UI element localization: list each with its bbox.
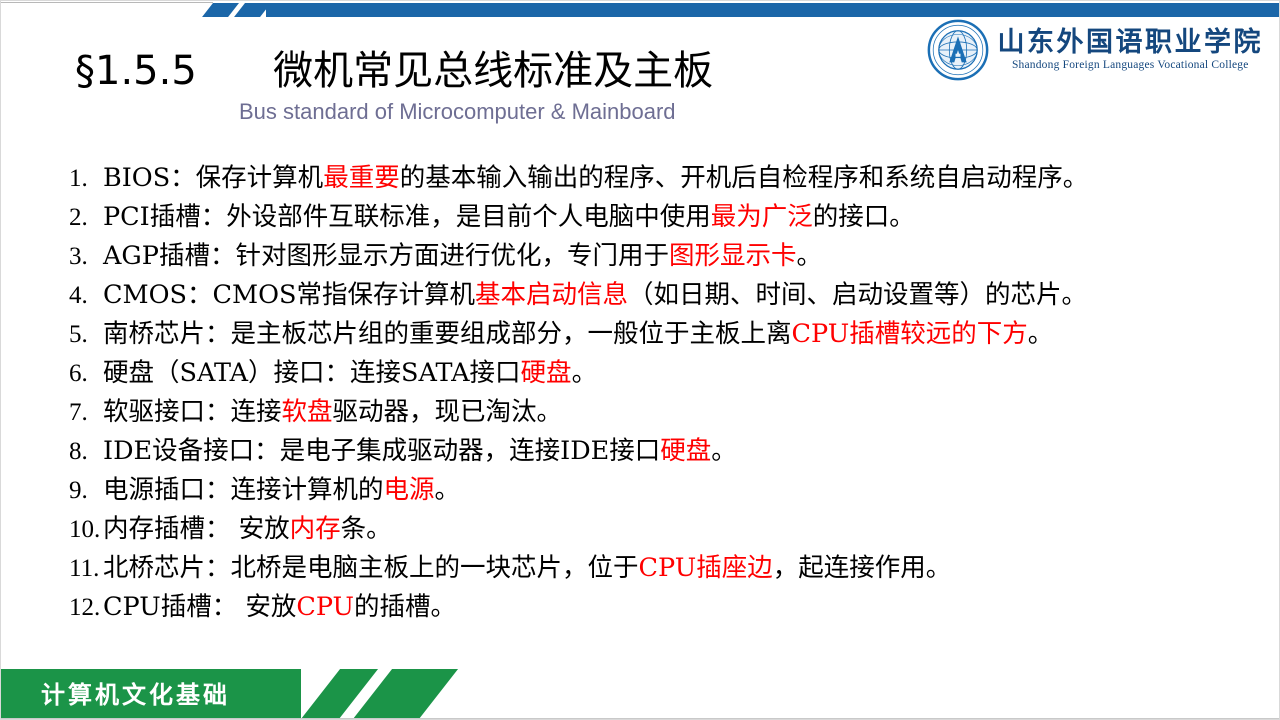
title-area: §1.5.5 微机常见总线标准及主板 Bus standard of Micro…: [1, 49, 1280, 124]
list-item-text: （如日期、时间、启动设置等）的芯片。: [628, 280, 1087, 310]
list-item-text: 。: [572, 358, 598, 388]
list-item-number: 10.: [69, 511, 103, 549]
list-item-number: 1.: [69, 160, 103, 198]
footer-band: 计算机文化基础: [1, 669, 1280, 719]
highlighted-text: 软盘: [282, 397, 333, 427]
list-item-text: CMOS：CMOS常指保存计算机: [103, 280, 475, 310]
highlighted-text: 基本启动信息: [475, 280, 628, 310]
highlighted-text: 最为广泛: [711, 202, 813, 232]
list-item-number: 11.: [69, 550, 103, 588]
list-item-number: 2.: [69, 199, 103, 237]
list-item-text: 北桥芯片：北桥是电脑主板上的一块芯片，位于: [103, 553, 639, 583]
list-item-text: 。: [1028, 319, 1054, 349]
list-item: 8.IDE设备接口：是电子集成驱动器，连接IDE接口硬盘。: [1, 432, 1280, 471]
list-item-text: 内存插槽： 安放: [103, 514, 290, 544]
slide-canvas: 山东外国语职业学院 Shandong Foreign Languages Voc…: [0, 0, 1280, 720]
list-item-text: 电源插口：连接计算机的: [103, 475, 384, 505]
list-item: 5.南桥芯片：是主板芯片组的重要组成部分，一般位于主板上离CPU插槽较远的下方。: [1, 315, 1280, 354]
list-item-number: 12.: [69, 589, 103, 627]
highlighted-text: 图形显示卡: [669, 241, 797, 271]
page-subtitle: Bus standard of Microcomputer & Mainboar…: [1, 100, 1280, 124]
header-stripe-1-icon: [202, 3, 239, 17]
list-item-text: PCI插槽：外设部件互联标准，是目前个人电脑中使用: [103, 202, 711, 232]
list-item-text: 的接口。: [813, 202, 915, 232]
list-item-text: 软驱接口：连接: [103, 397, 282, 427]
list-item-text: 。: [711, 436, 737, 466]
list-item-text: BIOS：保存计算机: [103, 163, 323, 193]
list-item-number: 7.: [69, 394, 103, 432]
list-item: 9.电源插口：连接计算机的电源。: [1, 471, 1280, 510]
list-item-text: 。: [796, 241, 822, 271]
list-item: 3.AGP插槽：针对图形显示方面进行优化，专门用于图形显示卡。: [1, 237, 1280, 276]
list-item-number: 9.: [69, 472, 103, 510]
highlighted-text: 内存: [290, 514, 341, 544]
content-list: 1.BIOS：保存计算机最重要的基本输入输出的程序、开机后自检程序和系统自启动程…: [1, 159, 1280, 627]
page-title: §1.5.5 微机常见总线标准及主板: [1, 49, 1280, 94]
highlighted-text: CPU插座边: [639, 553, 773, 583]
list-item-text: CPU插槽： 安放: [103, 592, 296, 622]
highlighted-text: CPU: [296, 592, 354, 622]
list-item-text: AGP插槽：针对图形显示方面进行优化，专门用于: [103, 241, 669, 271]
list-item: 12.CPU插槽： 安放CPU的插槽。: [1, 588, 1280, 627]
list-item-text: 。: [435, 475, 461, 505]
list-item-text: 的插槽。: [354, 592, 456, 622]
list-item-number: 4.: [69, 277, 103, 315]
list-item-text: 的基本输入输出的程序、开机后自检程序和系统自启动程序。: [400, 163, 1089, 193]
header-thin-rule: [1, 2, 213, 3]
list-item-text: 硬盘（SATA）接口：连接SATA接口: [103, 358, 521, 388]
list-item: 4.CMOS：CMOS常指保存计算机基本启动信息（如日期、时间、启动设置等）的芯…: [1, 276, 1280, 315]
list-item: 10.内存插槽： 安放内存条。: [1, 510, 1280, 549]
highlighted-text: CPU插槽较远的下方: [792, 319, 1028, 349]
list-item-number: 5.: [69, 316, 103, 354]
list-item: 7.软驱接口：连接软盘驱动器，现已淘汰。: [1, 393, 1280, 432]
highlighted-text: 电源: [384, 475, 435, 505]
list-item-text: ，起连接作用。: [773, 553, 952, 583]
list-item: 1.BIOS：保存计算机最重要的基本输入输出的程序、开机后自检程序和系统自启动程…: [1, 159, 1280, 198]
list-item: 2.PCI插槽：外设部件互联标准，是目前个人电脑中使用最为广泛的接口。: [1, 198, 1280, 237]
highlighted-text: 硬盘: [521, 358, 572, 388]
highlighted-text: 最重要: [323, 163, 400, 193]
header-decorative-band: [1, 1, 1280, 17]
list-item-number: 6.: [69, 355, 103, 393]
list-item: 11.北桥芯片：北桥是电脑主板上的一块芯片，位于CPU插座边，起连接作用。: [1, 549, 1280, 588]
highlighted-text: 硬盘: [660, 436, 711, 466]
list-item-text: 南桥芯片：是主板芯片组的重要组成部分，一般位于主板上离: [103, 319, 792, 349]
footer-bottom-rule: [1, 718, 1280, 719]
list-item-number: 8.: [69, 433, 103, 471]
header-blue-bar: [266, 3, 1280, 17]
footer-course-title: 计算机文化基础: [41, 675, 230, 710]
list-item-number: 3.: [69, 238, 103, 276]
list-item-text: 驱动器，现已淘汰。: [333, 397, 563, 427]
list-item-text: 条。: [341, 514, 392, 544]
list-item: 6.硬盘（SATA）接口：连接SATA接口硬盘。: [1, 354, 1280, 393]
list-item-text: IDE设备接口：是电子集成驱动器，连接IDE接口: [103, 436, 660, 466]
